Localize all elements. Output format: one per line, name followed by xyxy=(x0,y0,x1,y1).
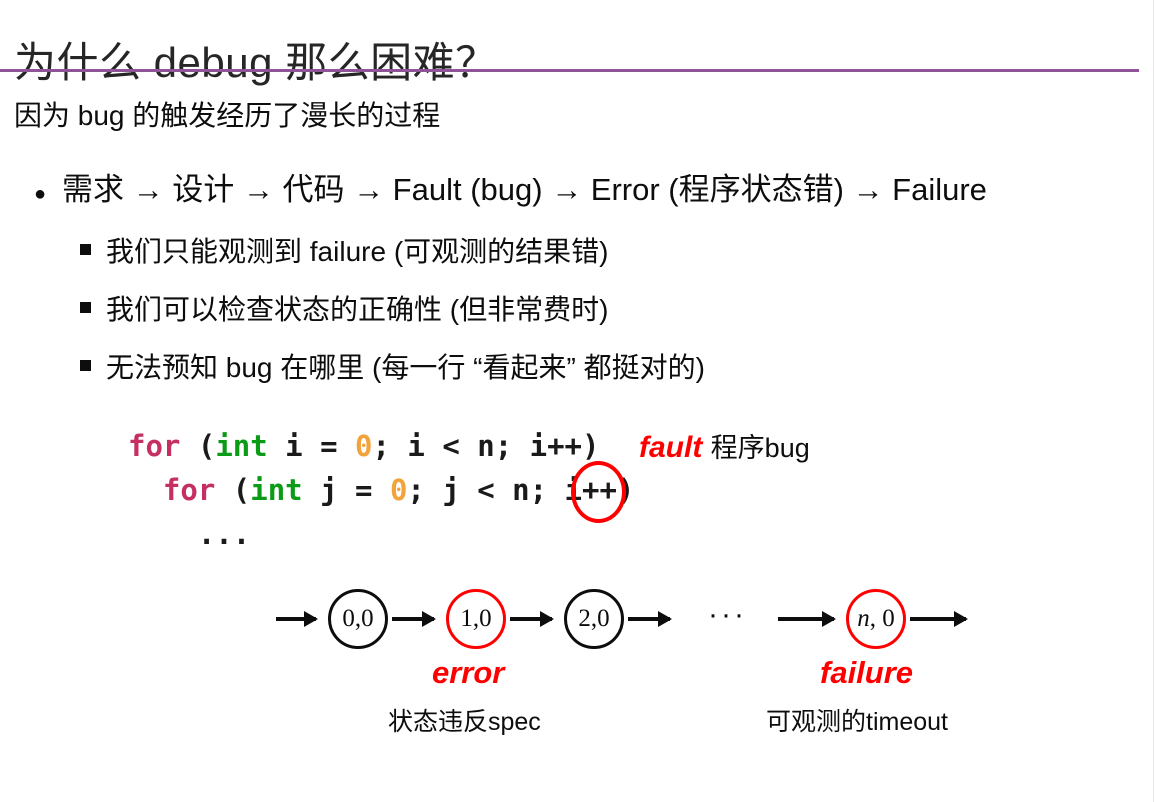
bullet-marker-round: ● xyxy=(34,172,62,216)
code-var-init: j = xyxy=(303,473,390,507)
code-var-init: i = xyxy=(268,429,355,463)
code-condition: ; i < n; i++) xyxy=(372,429,599,463)
code-line-3-ellipsis: ... xyxy=(128,517,250,551)
bullet-marker-square xyxy=(80,347,106,389)
bullet-marker-square xyxy=(80,289,106,331)
arrow-icon-3 xyxy=(628,617,670,621)
keyword-for: for xyxy=(163,473,215,507)
code-indent xyxy=(128,473,163,507)
caption-error-word: error xyxy=(432,655,504,691)
fault-label-word: fault xyxy=(639,431,702,464)
state-node-n-0: n, 0 xyxy=(846,589,906,649)
bullet-level1: ● 需求 → 设计 → 代码 → Fault (bug) → Error (程序… xyxy=(34,168,987,216)
bullet-level2-1-text: 我们只能观测到 failure (可观测的结果错) xyxy=(106,231,608,273)
bug-highlight-ellipse-icon xyxy=(571,461,626,523)
literal-zero: 0 xyxy=(390,473,407,507)
arrow-icon-2 xyxy=(510,617,552,621)
bullet-marker-square xyxy=(80,231,106,273)
type-int: int xyxy=(250,473,302,507)
state-node-2-0: 2,0 xyxy=(564,589,624,649)
state-node-2-0-label: 2,0 xyxy=(578,605,609,633)
type-int: int xyxy=(215,429,267,463)
bullet-level2-3: 无法预知 bug 在哪里 (每一行 “看起来” 都挺对的) xyxy=(80,347,705,389)
code-line-2: for (int j = 0; j < n; i++) xyxy=(128,473,634,507)
literal-zero: 0 xyxy=(355,429,372,463)
bullet-level2-3-text: 无法预知 bug 在哪里 (每一行 “看起来” 都挺对的) xyxy=(106,347,705,389)
arrow-icon-entry xyxy=(276,617,316,621)
state-node-1-0: 1,0 xyxy=(446,589,506,649)
code-paren-open: ( xyxy=(215,473,250,507)
fault-annotation: fault 程序bug xyxy=(639,428,810,468)
state-node-n-0-label: , 0 xyxy=(870,605,895,633)
arrow-icon-4 xyxy=(778,617,834,621)
arrow-icon-1 xyxy=(392,617,434,621)
page-title: 为什么 debug 那么困难？ xyxy=(14,36,498,90)
bullet-level2-1: 我们只能观测到 failure (可观测的结果错) xyxy=(80,231,608,273)
subtitle-text: 因为 bug 的触发经历了漫长的过程 xyxy=(14,96,440,136)
bullet-level1-text: 需求 → 设计 → 代码 → Fault (bug) → Error (程序状态… xyxy=(62,168,987,212)
code-snippet: for (int i = 0; i < n; i++) for (int j =… xyxy=(128,424,634,556)
code-paren-open: ( xyxy=(180,429,215,463)
fault-label-cn: 程序bug xyxy=(711,433,810,463)
bullet-level2-2: 我们可以检查状态的正确性 (但非常费时) xyxy=(80,289,608,331)
arrow-icon-exit xyxy=(910,617,966,621)
caption-failure-word: failure xyxy=(820,655,913,691)
state-node-0-0-label: 0,0 xyxy=(342,605,373,633)
diagram-ellipsis: ··· xyxy=(708,598,747,632)
state-node-0-0: 0,0 xyxy=(328,589,388,649)
caption-error-cn: 状态违反spec xyxy=(388,702,541,738)
bullet-level2-2-text: 我们可以检查状态的正确性 (但非常费时) xyxy=(106,289,608,331)
caption-failure-cn: 可观测的timeout xyxy=(766,702,948,738)
state-node-1-0-label: 1,0 xyxy=(460,605,491,633)
keyword-for: for xyxy=(128,429,180,463)
state-node-n-0-var: n xyxy=(857,605,870,633)
code-line-1: for (int i = 0; i < n; i++) xyxy=(128,429,599,463)
title-divider xyxy=(0,69,1139,72)
slide-canvas: 为什么 debug 那么困难？ 因为 bug 的触发经历了漫长的过程 ● 需求 … xyxy=(0,0,1154,802)
